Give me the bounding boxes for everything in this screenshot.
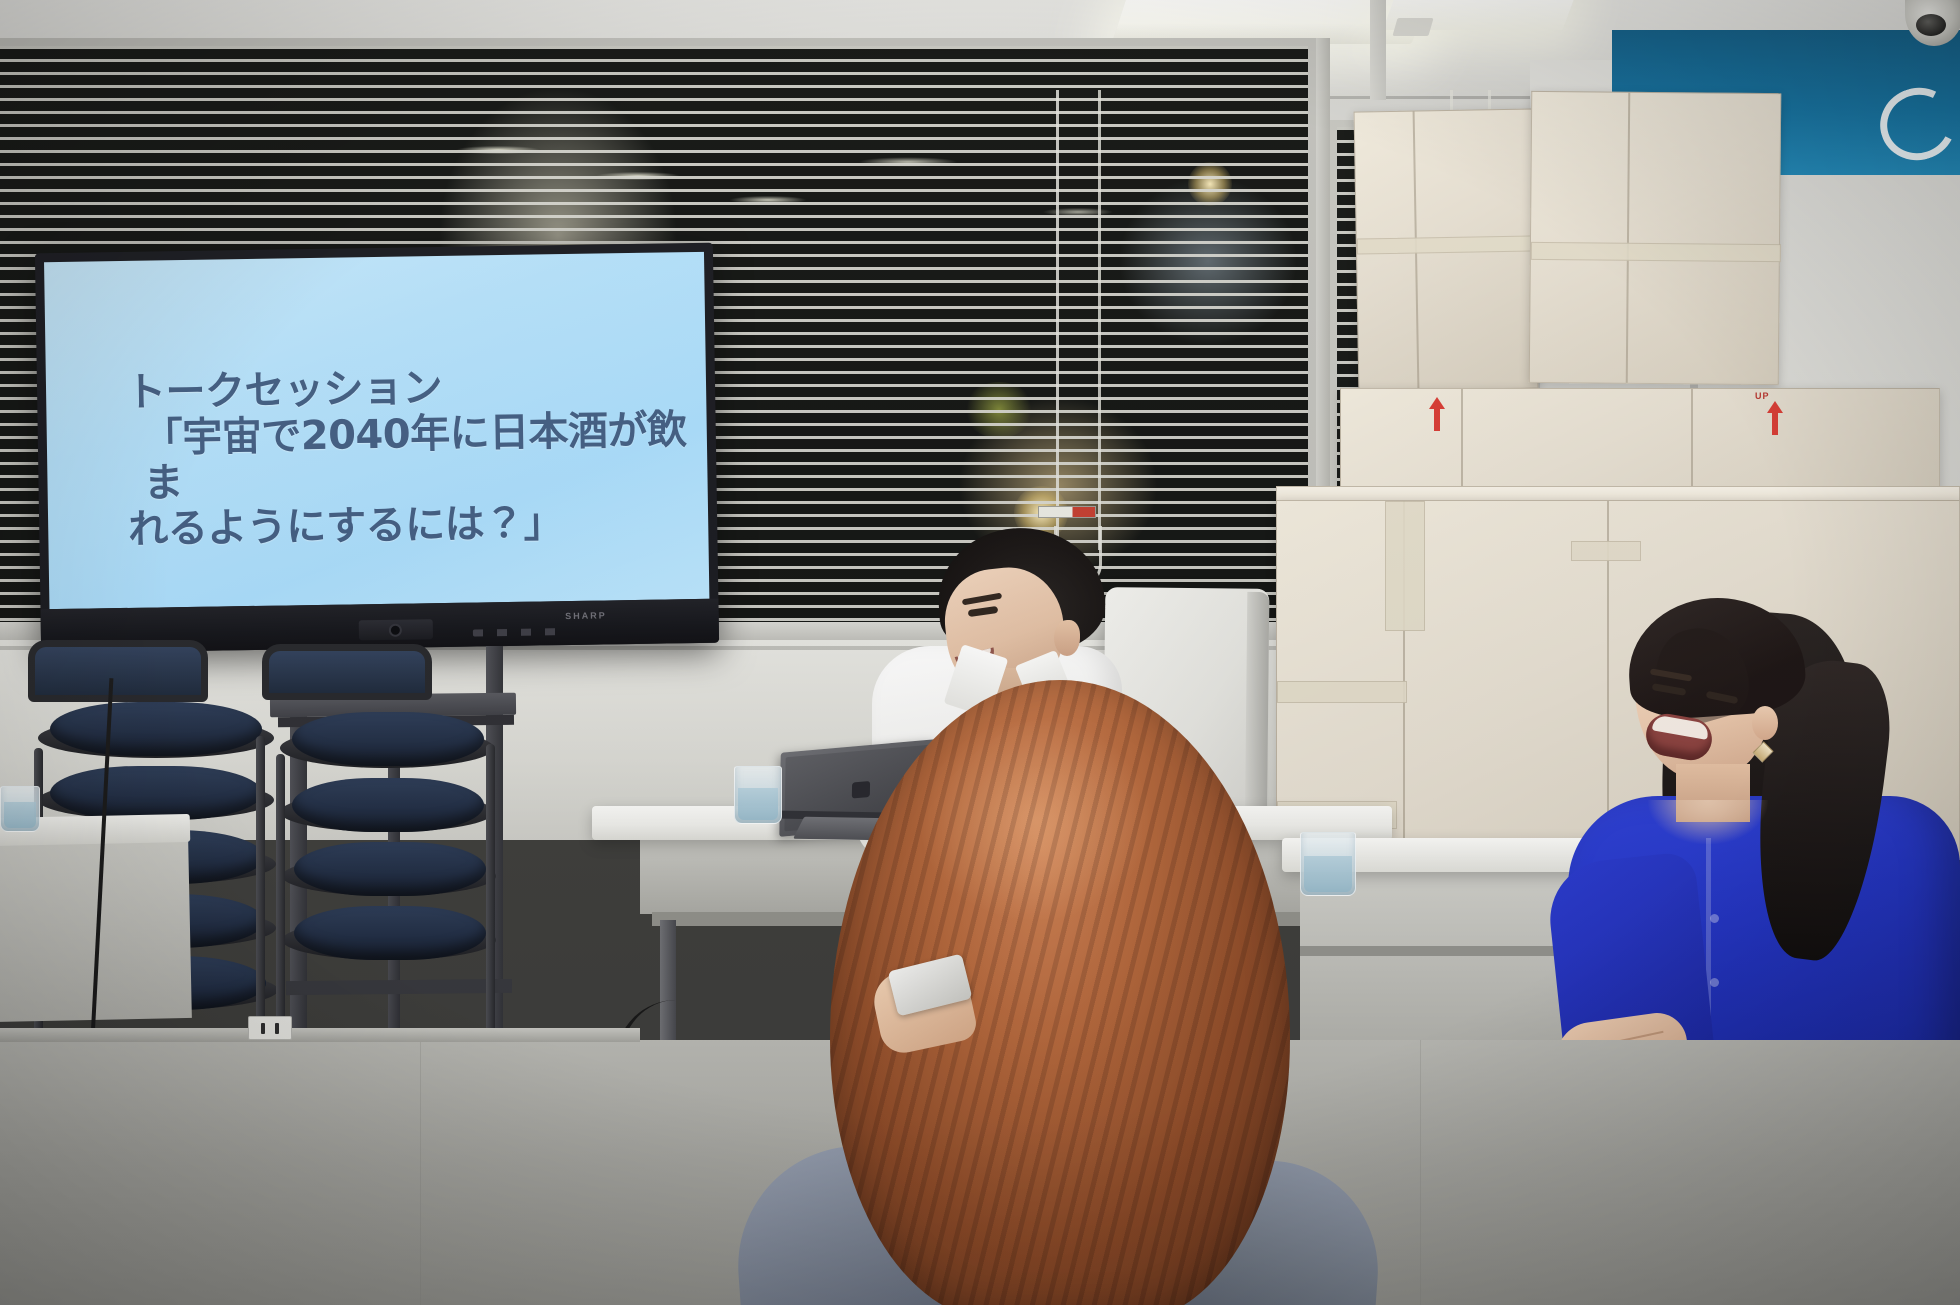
photo-scene: UP トークセッション 「宇宙で2040年に日本酒が飲ま れるようにするには？」… bbox=[0, 0, 1960, 1305]
chair2-seat-3 bbox=[294, 842, 486, 896]
wall-sign-logo-icon bbox=[1871, 78, 1960, 170]
light-housing bbox=[1392, 18, 1433, 36]
woman-ear bbox=[1752, 706, 1778, 740]
chair2-backrest bbox=[262, 644, 432, 700]
blind-cord-left[interactable] bbox=[1056, 90, 1059, 560]
chair-seat-1 bbox=[50, 702, 262, 756]
chair-backrest bbox=[28, 640, 208, 702]
glass-water-center bbox=[738, 788, 778, 820]
slide-text-block: トークセッション 「宇宙で2040年に日本酒が飲ま れるようにするには？」 bbox=[126, 362, 699, 553]
up-arrow-icon-1 bbox=[1429, 397, 1445, 431]
tv-brand-label: SHARP bbox=[565, 610, 607, 621]
glass-water-right bbox=[1304, 856, 1352, 892]
chair2-leg-right bbox=[486, 744, 495, 1034]
up-label-1: UP bbox=[1755, 391, 1770, 401]
floor-seam-1 bbox=[420, 1040, 421, 1305]
slide-line-2: 「宇宙で2040年に日本酒が飲ま bbox=[142, 408, 697, 508]
chair2-seat-2 bbox=[292, 778, 484, 832]
water-glass-right[interactable] bbox=[1300, 832, 1356, 896]
water-glass-center[interactable] bbox=[734, 766, 782, 824]
cardboard-box-back-left bbox=[1354, 108, 1539, 391]
window-warning-sticker bbox=[1038, 506, 1096, 518]
presentation-display[interactable]: トークセッション 「宇宙で2040年に日本酒が飲ま れるようにするには？」 SH… bbox=[35, 243, 719, 654]
dress-button-1 bbox=[1710, 914, 1719, 923]
tv-control-buttons[interactable] bbox=[473, 628, 569, 637]
wall-outlet[interactable] bbox=[248, 1016, 292, 1040]
baseboard bbox=[0, 1028, 640, 1042]
webcam-lens-icon bbox=[391, 626, 400, 635]
chair2-seat-1 bbox=[292, 712, 484, 766]
glass-water-left bbox=[4, 802, 36, 828]
chair2-leg-left bbox=[276, 754, 285, 1044]
blind-cord-left-2[interactable] bbox=[1098, 90, 1101, 550]
tv-screen[interactable]: トークセッション 「宇宙で2040年に日本酒が飲ま れるようにするには？」 bbox=[44, 252, 709, 609]
chair2-seat-4 bbox=[294, 906, 486, 960]
dome-camera-lens-icon bbox=[1916, 14, 1946, 36]
cardboard-box-back-right bbox=[1529, 91, 1782, 385]
outlet-slot-1 bbox=[261, 1023, 265, 1034]
slide-line-3: れるようにするには？」 bbox=[128, 499, 699, 554]
water-glass-left[interactable] bbox=[0, 786, 40, 832]
up-arrow-icon-2 bbox=[1767, 401, 1783, 435]
dress-button-2 bbox=[1710, 978, 1719, 987]
chair-seat-2 bbox=[50, 766, 262, 820]
stacked-chairs-right bbox=[262, 644, 512, 1064]
man-ear bbox=[1054, 620, 1080, 656]
laptop-logo-icon bbox=[852, 781, 870, 799]
outlet-slot-2 bbox=[275, 1023, 279, 1034]
floor-seam-3 bbox=[1420, 1040, 1421, 1305]
